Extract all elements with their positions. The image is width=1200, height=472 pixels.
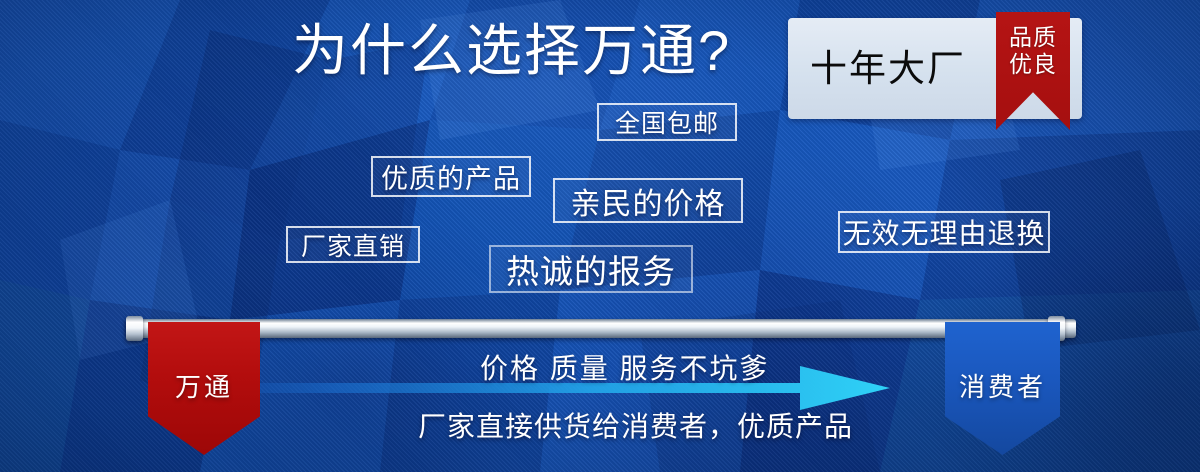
slogan-primary: 价格 质量 服务不坑爹 — [480, 352, 770, 386]
ribbon-line-1: 品质 — [1009, 24, 1057, 51]
badge-title: 十年大厂 — [810, 48, 966, 90]
page-title: 为什么选择万通? — [292, 16, 731, 86]
feature-tag-warm-service: 热诚的报务 — [489, 245, 693, 293]
slogan-secondary: 厂家直接供货给消费者，优质产品 — [418, 410, 853, 444]
quality-badge: 十年大厂 品质 优良 — [788, 18, 1082, 119]
rod-cap-left-icon — [126, 316, 143, 341]
promo-banner: 为什么选择万通? 十年大厂 品质 优良 全国包邮 优质的产品 亲民的价格 厂家直… — [0, 0, 1200, 472]
hanging-rod — [126, 319, 1076, 338]
feature-tag-factory-direct: 厂家直销 — [286, 226, 420, 263]
ribbon-line-2: 优良 — [1009, 51, 1057, 78]
feature-tag-fair-price: 亲民的价格 — [553, 178, 743, 223]
flag-manufacturer-label: 万通 — [175, 367, 233, 404]
feature-tag-quality-product: 优质的产品 — [371, 156, 531, 197]
quality-ribbon: 品质 优良 — [996, 12, 1070, 130]
flag-consumer-label: 消费者 — [959, 367, 1046, 404]
feature-tag-free-shipping: 全国包邮 — [597, 103, 737, 141]
feature-tag-free-return: 无效无理由退换 — [838, 211, 1050, 253]
